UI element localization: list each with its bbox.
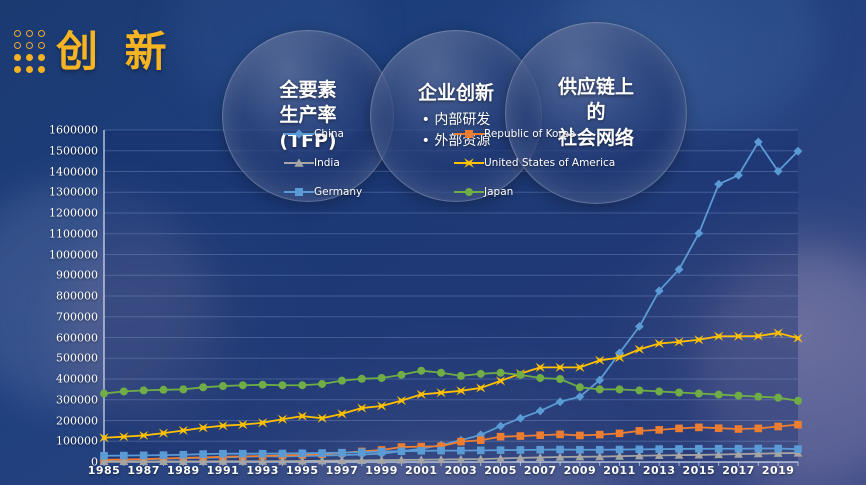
data-point <box>120 452 128 460</box>
data-point <box>774 394 782 402</box>
y-axis-tick-label: 1100000 <box>20 227 98 240</box>
data-point <box>259 450 267 458</box>
x-axis-labels: 1985198719891991199319951997199920012003… <box>0 464 866 485</box>
page-title: 创 新 <box>56 31 173 73</box>
y-axis-tick-label: 1600000 <box>20 124 98 137</box>
data-point <box>219 382 227 390</box>
x-axis-tick-label: 2001 <box>405 464 438 477</box>
data-point <box>477 447 485 455</box>
data-point <box>477 370 485 378</box>
data-point <box>100 390 108 398</box>
data-point <box>635 345 644 354</box>
data-point <box>556 397 565 406</box>
data-point <box>616 446 624 454</box>
data-point <box>616 385 624 393</box>
data-point <box>279 450 287 458</box>
legend-label: Germany <box>314 186 362 198</box>
data-point <box>477 436 485 444</box>
data-point <box>239 381 247 389</box>
y-axis-tick-label: 800000 <box>20 290 98 303</box>
y-axis-tick-label: 600000 <box>20 331 98 344</box>
data-point <box>457 447 465 455</box>
data-point <box>140 386 148 394</box>
legend-symbol-circle-icon <box>463 186 476 199</box>
data-point <box>159 386 167 394</box>
data-point <box>140 452 148 460</box>
legend-marker <box>454 157 484 169</box>
legend-label: Japan <box>484 186 513 198</box>
legend-symbol-square-icon <box>293 186 306 199</box>
y-axis-tick-label: 900000 <box>20 269 98 282</box>
data-point <box>596 446 604 454</box>
data-point <box>675 425 683 433</box>
y-axis-tick-label: 1000000 <box>20 248 98 261</box>
data-point <box>755 425 763 433</box>
data-point <box>794 397 802 405</box>
legend-marker <box>284 128 314 140</box>
y-axis-tick-label: 200000 <box>20 414 98 427</box>
data-point <box>655 387 663 395</box>
data-point <box>794 421 802 429</box>
data-point <box>754 393 762 401</box>
data-point <box>417 447 425 455</box>
bubble-firm-title: 企业创新 <box>418 81 494 106</box>
data-point <box>179 385 187 393</box>
x-axis-tick-label: 2019 <box>762 464 795 477</box>
data-point <box>715 445 723 453</box>
data-point <box>536 446 544 454</box>
legend-label: Republic of Korea <box>484 128 575 140</box>
x-axis-tick-label: 2009 <box>564 464 597 477</box>
data-point <box>576 446 584 454</box>
data-point <box>397 371 405 379</box>
data-point <box>437 447 445 455</box>
y-axis-tick-label: 1500000 <box>20 144 98 157</box>
y-axis-tick-label: 500000 <box>20 352 98 365</box>
data-point <box>675 388 683 396</box>
y-axis-tick-label: 100000 <box>20 435 98 448</box>
chart-legend: ChinaRepublic of KoreaIndiaUnited States… <box>284 128 600 198</box>
data-point <box>735 392 743 400</box>
y-axis-tick-label: 1400000 <box>20 165 98 178</box>
data-point <box>715 424 723 432</box>
data-point <box>655 445 663 453</box>
data-point <box>715 391 723 399</box>
data-point <box>695 445 703 453</box>
data-point <box>794 445 802 453</box>
data-point <box>378 448 386 456</box>
data-point <box>358 448 366 456</box>
legend-symbol-diamond-icon <box>293 128 306 141</box>
x-axis-tick-label: 2007 <box>524 464 557 477</box>
x-axis-tick-label: 1989 <box>167 464 200 477</box>
series-line <box>104 333 798 438</box>
legend-symbol-star-icon <box>463 157 476 170</box>
data-point <box>180 451 188 459</box>
data-point <box>338 449 346 457</box>
legend-symbol-square-icon <box>463 128 476 141</box>
data-point <box>695 390 703 398</box>
data-point <box>616 430 624 438</box>
x-axis-tick-label: 2017 <box>722 464 755 477</box>
slide-canvas: 创 新 全要素 生产率 (TFP) 企业创新 内部研发外部资源 供应链上 的 社… <box>0 0 866 485</box>
x-axis-tick-label: 2011 <box>603 464 636 477</box>
data-point <box>100 452 108 460</box>
data-point <box>517 446 525 454</box>
x-axis-tick-label: 2013 <box>643 464 676 477</box>
x-axis-tick-label: 1991 <box>207 464 240 477</box>
x-axis-tick-label: 1985 <box>88 464 121 477</box>
data-point <box>576 383 584 391</box>
data-point <box>298 381 306 389</box>
data-point <box>536 407 545 416</box>
data-point <box>496 422 505 431</box>
data-point <box>457 438 465 446</box>
data-point <box>556 446 564 454</box>
legend-label: United States of America <box>484 157 615 169</box>
y-axis-tick-label: 300000 <box>20 393 98 406</box>
legend-label: China <box>314 128 344 140</box>
data-point <box>636 446 644 454</box>
legend-label: India <box>314 157 340 169</box>
data-point <box>556 431 564 439</box>
data-point <box>556 375 564 383</box>
data-point <box>714 180 723 189</box>
data-point <box>378 374 386 382</box>
y-axis-tick-label: 700000 <box>20 310 98 323</box>
data-point <box>497 446 505 454</box>
slide-title-block: 创 新 <box>14 30 173 74</box>
data-point <box>516 371 524 379</box>
data-point <box>695 424 703 432</box>
data-point <box>774 423 782 431</box>
data-point <box>457 372 465 380</box>
data-point <box>774 445 782 453</box>
data-point <box>437 369 445 377</box>
x-axis-tick-label: 2003 <box>445 464 478 477</box>
data-point <box>576 432 584 440</box>
data-point <box>199 383 207 391</box>
data-point <box>536 431 544 439</box>
legend-item[interactable]: Germany <box>284 186 454 198</box>
data-point <box>755 445 763 453</box>
data-point <box>338 377 346 385</box>
data-point <box>596 431 604 439</box>
x-axis-tick-label: 1999 <box>365 464 398 477</box>
data-point <box>635 386 643 394</box>
legend-item[interactable]: Republic of Korea <box>454 128 624 140</box>
legend-marker <box>284 157 314 169</box>
y-axis-labels: 1600000150000014000001300000120000011000… <box>16 118 98 485</box>
data-point <box>735 445 743 453</box>
data-point <box>120 387 128 395</box>
data-point <box>596 385 604 393</box>
data-point <box>694 229 703 238</box>
data-point <box>318 449 326 457</box>
legend-marker <box>454 186 484 198</box>
data-point <box>497 433 505 441</box>
legend-marker <box>454 128 484 140</box>
data-point <box>318 380 326 388</box>
y-axis-tick-label: 1300000 <box>20 186 98 199</box>
data-point <box>160 451 168 459</box>
data-point <box>259 381 267 389</box>
data-point <box>636 427 644 435</box>
x-axis-tick-label: 1995 <box>286 464 319 477</box>
x-axis-tick-label: 2005 <box>484 464 517 477</box>
legend-item[interactable]: India <box>284 157 454 169</box>
x-axis-tick-label: 1997 <box>326 464 359 477</box>
series-japan <box>100 367 802 405</box>
data-point <box>398 447 406 455</box>
data-point <box>675 445 683 453</box>
data-point <box>734 171 743 180</box>
data-point <box>735 425 743 433</box>
data-point <box>536 374 544 382</box>
data-point <box>219 450 227 458</box>
data-point <box>516 414 525 423</box>
data-point <box>199 450 207 458</box>
data-point <box>517 432 525 440</box>
data-point <box>278 381 286 389</box>
data-point <box>496 376 505 385</box>
data-point <box>298 449 306 457</box>
x-axis-tick-label: 1993 <box>246 464 279 477</box>
dot-grid-icon <box>14 30 46 74</box>
legend-item[interactable]: United States of America <box>454 157 624 169</box>
x-axis-tick-label: 1987 <box>127 464 160 477</box>
legend-symbol-triangle-icon <box>293 157 306 170</box>
data-point <box>358 375 366 383</box>
legend-item[interactable]: Japan <box>454 186 624 198</box>
x-axis-tick-label: 2015 <box>683 464 716 477</box>
legend-item[interactable]: China <box>284 128 454 140</box>
data-point <box>417 367 425 375</box>
data-point <box>655 426 663 434</box>
data-point <box>497 369 505 377</box>
legend-marker <box>284 186 314 198</box>
y-axis-tick-label: 400000 <box>20 373 98 386</box>
y-axis-tick-label: 1200000 <box>20 207 98 220</box>
series-line <box>104 371 798 401</box>
data-point <box>239 450 247 458</box>
